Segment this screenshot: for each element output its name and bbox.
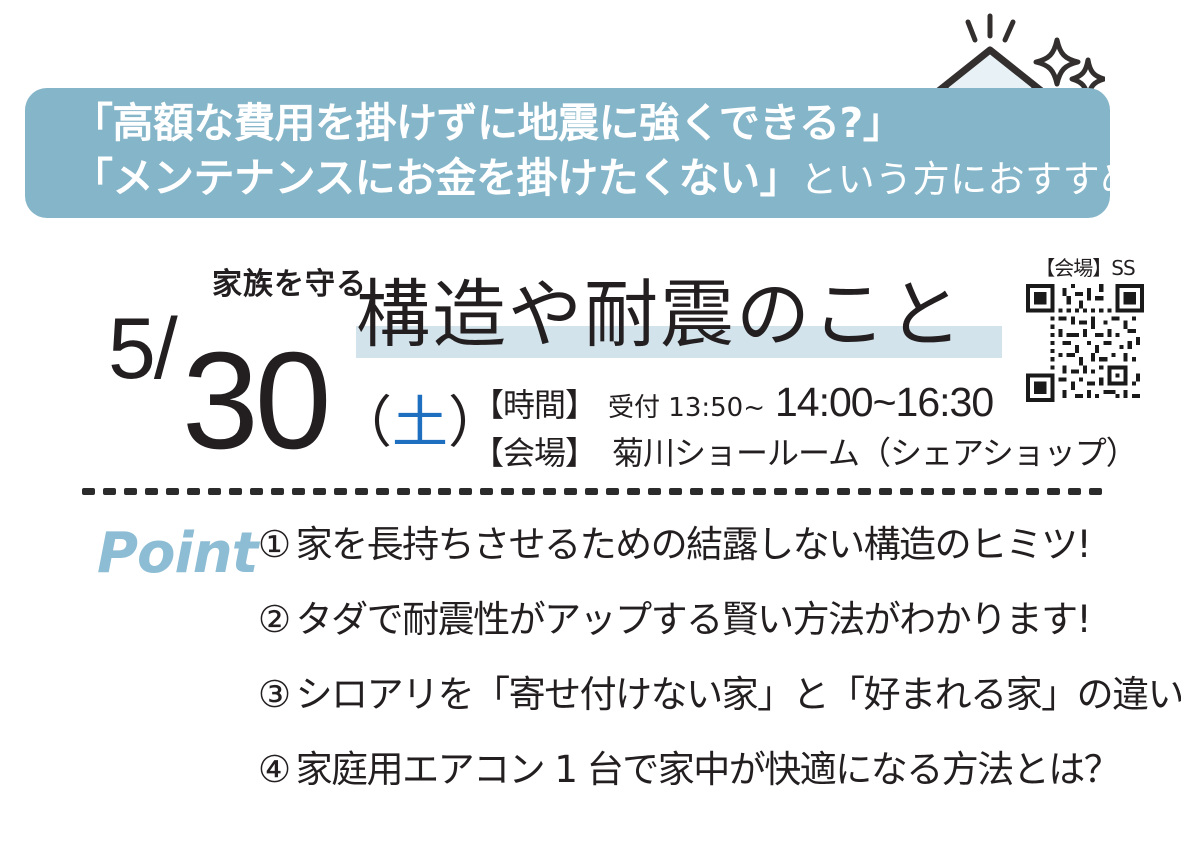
point-number: ④	[258, 748, 290, 791]
event-info: 【時間】 受付 13:50~ 14:00~16:30 【会場】 菊川ショールーム…	[472, 382, 1092, 483]
point-text: タダで耐震性がアップする賢い方法がわかります!	[296, 598, 1090, 641]
point-number: ②	[258, 598, 290, 641]
list-item: ②タダで耐震性がアップする賢い方法がわかります!	[258, 601, 1118, 638]
point-list: ①家を長持ちさせるための結露しない構造のヒミツ! ②タダで耐震性がアップする賢い…	[258, 526, 1118, 826]
banner-line-2-normal: という方におすすめ	[800, 158, 1138, 201]
point-text: シロアリを「寄せ付けない家」と「好まれる家」の違い?	[296, 673, 1181, 716]
date-month: 5/	[108, 306, 176, 392]
day-of-week-label: 土	[392, 391, 448, 456]
banner-line-2-strong: 「メンテナンスにお金を掛けたくない」	[72, 154, 800, 202]
date-day: 30	[182, 332, 328, 470]
title-text: 構造や耐震のこと	[356, 276, 964, 356]
point-number: ③	[258, 673, 290, 716]
point-text: 家を長持ちさせるための結露しない構造のヒミツ!	[296, 523, 1090, 566]
list-item: ①家を長持ちさせるための結露しない構造のヒミツ!	[258, 526, 1118, 563]
point-number: ①	[258, 523, 290, 566]
point-text: 家庭用エアコン 1 台で家中が快適になる方法とは？	[296, 748, 1120, 791]
list-item: ④家庭用エアコン 1 台で家中が快適になる方法とは？	[258, 751, 1118, 788]
list-item: ③シロアリを「寄せ付けない家」と「好まれる家」の違い?	[258, 676, 1118, 713]
info-row-time: 【時間】 受付 13:50~ 14:00~16:30	[472, 382, 1092, 423]
qr-code-icon[interactable]	[1026, 284, 1144, 402]
banner-line-2: 「メンテナンスにお金を掛けたくない」という方におすすめ	[72, 158, 1110, 199]
dotted-divider	[82, 488, 1102, 496]
title-kicker: 家族を守る	[212, 270, 367, 300]
point-badge: Point	[97, 526, 257, 582]
venue-label: 【会場】	[472, 437, 596, 469]
qr-label: 【会場】SS	[1020, 258, 1150, 278]
time-reception: 受付 13:50~	[608, 395, 765, 421]
paren-open: （	[336, 391, 392, 456]
time-label: 【時間】	[472, 389, 596, 421]
page-title: 構造や耐震のこと	[356, 276, 964, 362]
time-main: 14:00~16:30	[775, 382, 993, 423]
header-banner: 「高額な費用を掛けずに地震に強くできる?」 「メンテナンスにお金を掛けたくない」…	[25, 88, 1110, 218]
qr-block: 【会場】SS	[1020, 258, 1150, 402]
venue-name: 菊川ショールーム（シェアショップ）	[612, 437, 1137, 469]
banner-line-1: 「高額な費用を掛けずに地震に強くできる?」	[72, 103, 1110, 144]
info-row-venue: 【会場】 菊川ショールーム（シェアショップ）	[472, 437, 1092, 469]
